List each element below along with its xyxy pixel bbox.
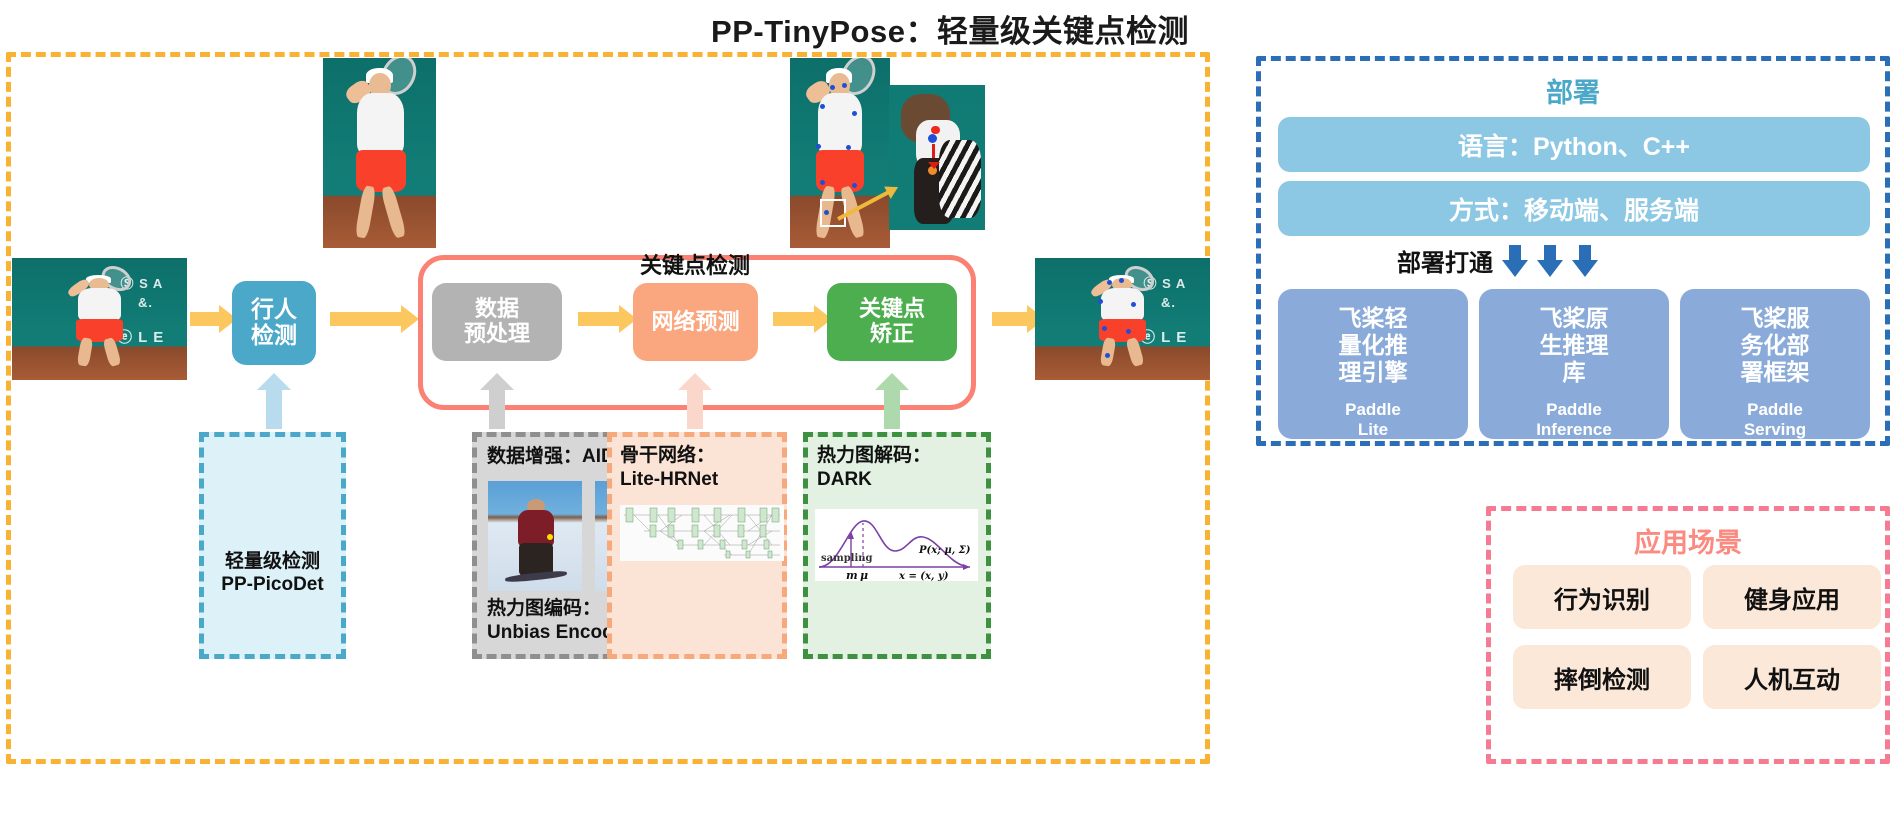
- arrow-up-refine: [875, 373, 909, 429]
- keypoint-group-label: 关键点检测: [640, 248, 750, 280]
- panel-encoding-label-1: 热力图编码：: [487, 597, 601, 620]
- panel-lightweight-detection: 轻量级检测 PP-PicoDet: [199, 432, 346, 659]
- node-data-preprocess[interactable]: 数据 预处理: [432, 283, 562, 361]
- panel-backbone-detail: 骨干网络： Lite-HRNet: [607, 432, 787, 659]
- arrow-detect-to-group: [330, 312, 402, 326]
- down-arrow-icon-1: [1502, 245, 1528, 277]
- panel-aid-label: 数据增强：AID: [487, 445, 615, 468]
- svg-text:x = (x, y): x = (x, y): [898, 571, 949, 581]
- arrow-group-to-output: [992, 312, 1028, 326]
- deployment-title: 部署: [1261, 71, 1885, 110]
- deployment-panel: 部署 语言：Python、C++ 方式：移动端、服务端 部署打通 飞桨轻 量化推…: [1256, 56, 1890, 446]
- deployment-mode-bar: 方式：移动端、服务端: [1278, 181, 1870, 236]
- page-title: PP-TinyPose：轻量级关键点检测: [0, 6, 1900, 51]
- dark-distribution-figure: sampling m μ P(x; μ, Σ) x = (x, y): [815, 509, 978, 581]
- deploy-card-en-1: Paddle Inference: [1536, 400, 1612, 439]
- deploy-card-cn-2: 飞桨服 务化部 署框架: [1741, 305, 1810, 386]
- arrow-input-to-detect: [190, 312, 220, 326]
- scenarios-title: 应用场景: [1491, 521, 1885, 560]
- panel-backbone-label-1: 骨干网络：: [620, 444, 715, 467]
- arrow-network-to-refine: [773, 312, 815, 326]
- hrnet-diagram: [620, 505, 784, 561]
- panel-decode-detail: 热力图解码： DARK sampling m μ P(x; μ, Σ) x = …: [803, 432, 991, 659]
- node-keypoint-refine[interactable]: 关键点 矫正: [827, 283, 957, 361]
- svg-text:sampling: sampling: [821, 553, 873, 564]
- deployment-through-text: 部署打通: [1397, 243, 1493, 278]
- deploy-card-paddle-serving[interactable]: 飞桨服 务化部 署框架 Paddle Serving: [1680, 289, 1870, 439]
- svg-text:P(x; μ, Σ): P(x; μ, Σ): [918, 545, 971, 556]
- deploy-card-paddle-inference[interactable]: 飞桨原 生推理 库 Paddle Inference: [1479, 289, 1669, 439]
- deploy-card-en-2: Paddle Serving: [1744, 400, 1806, 439]
- arrow-up-detection: [257, 373, 291, 429]
- input-photo: Ⓢ S A &. ⓔ L E: [12, 258, 187, 380]
- down-arrow-icon-3: [1572, 245, 1598, 277]
- panel-decode-label-1: 热力图解码：: [817, 444, 931, 467]
- scenario-chip-2[interactable]: 摔倒检测: [1513, 645, 1691, 709]
- down-arrow-icon-2: [1537, 245, 1563, 277]
- deploy-card-cn-1: 飞桨原 生推理 库: [1540, 305, 1609, 386]
- deploy-card-en-0: Paddle Lite: [1345, 400, 1401, 439]
- panel-detection-line2: PP-PicoDet: [204, 573, 341, 596]
- scenario-chip-3[interactable]: 人机互动: [1703, 645, 1881, 709]
- panel-backbone-label-2: Lite-HRNet: [620, 468, 718, 491]
- scenario-chip-0[interactable]: 行为识别: [1513, 565, 1691, 629]
- svg-text:μ: μ: [860, 569, 868, 581]
- panel-detection-line1: 轻量级检测: [204, 550, 341, 573]
- svg-text:m: m: [846, 569, 858, 581]
- deploy-card-cn-0: 飞桨轻 量化推 理引擎: [1339, 305, 1408, 386]
- cropped-person-photo: [323, 58, 436, 248]
- node-person-detection[interactable]: 行人 检测: [232, 281, 316, 365]
- panel-decode-label-2: DARK: [817, 468, 872, 491]
- scenario-chip-1[interactable]: 健身应用: [1703, 565, 1881, 629]
- aid-photo-original: [488, 481, 582, 591]
- ankle-zoom-photo: [889, 85, 985, 230]
- deploy-card-paddle-lite[interactable]: 飞桨轻 量化推 理引擎 Paddle Lite: [1278, 289, 1468, 439]
- arrow-up-network: [678, 373, 712, 429]
- arrow-output-to-deploy: [1196, 297, 1258, 343]
- deployment-language-bar: 语言：Python、C++: [1278, 117, 1870, 172]
- arrow-deploy-to-scenarios: [1547, 452, 1593, 514]
- deployment-through-label: 部署打通: [1397, 243, 1598, 278]
- node-network-predict[interactable]: 网络预测: [633, 283, 758, 361]
- arrow-preprocess-to-network: [578, 312, 620, 326]
- output-photo: Ⓢ S A &. ⓔ L E: [1035, 258, 1210, 380]
- ankle-zoom-box: [820, 199, 846, 228]
- scenarios-panel: 应用场景 行为识别 健身应用 摔倒检测 人机互动: [1486, 506, 1890, 764]
- arrow-up-preprocess: [480, 373, 514, 429]
